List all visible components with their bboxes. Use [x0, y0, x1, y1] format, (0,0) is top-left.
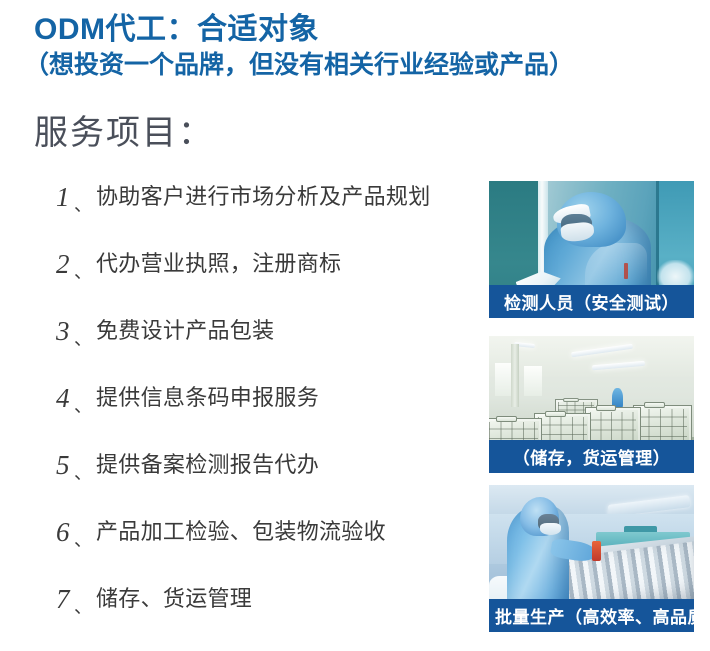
list-item-label: 协助客户进行市场分析及产品规划 — [96, 182, 431, 210]
photo-caption: 批量生产（高效率、高品质） — [489, 599, 694, 632]
list-item-separator: 、 — [73, 383, 96, 418]
list-item-label: 代办营业执照，注册商标 — [96, 249, 341, 277]
list-item-number: 4 — [56, 383, 73, 412]
list-item-separator: 、 — [73, 316, 96, 351]
photo-gallery: 检测人员（安全测试） （储存，货运管理） — [489, 181, 694, 632]
list-item: 3 、 免费设计产品包装 — [56, 316, 476, 383]
list-item-separator: 、 — [73, 450, 96, 485]
list-item-label: 免费设计产品包装 — [96, 316, 274, 344]
list-item-number: 2 — [56, 249, 73, 278]
list-item-number: 6 — [56, 517, 73, 546]
list-item-number: 5 — [56, 450, 73, 479]
list-item: 5 、 提供备案检测报告代办 — [56, 450, 476, 517]
list-item-number: 1 — [56, 182, 73, 211]
services-section-heading: 服务项目： — [34, 112, 214, 155]
list-item-label: 提供信息条码申报服务 — [96, 383, 319, 411]
photo-card-production: 批量生产（高效率、高品质） — [489, 485, 694, 632]
list-item-separator: 、 — [73, 182, 96, 217]
photo-caption: 检测人员（安全测试） — [489, 285, 694, 318]
list-item: 7 、 储存、货运管理 — [56, 584, 476, 651]
list-item-separator: 、 — [73, 517, 96, 552]
list-item: 2 、 代办营业执照，注册商标 — [56, 249, 476, 316]
page-subtitle: （想投资一个品牌，但没有相关行业经验或产品） — [24, 49, 710, 81]
list-item-label: 储存、货运管理 — [96, 584, 252, 612]
service-items-list: 1 、 协助客户进行市场分析及产品规划 2 、 代办营业执照，注册商标 3 、 … — [56, 182, 476, 651]
page-header: ODM代工：合适对象 （想投资一个品牌，但没有相关行业经验或产品） — [0, 0, 710, 81]
photo-caption: （储存，货运管理） — [489, 440, 694, 473]
photo-card-inspector: 检测人员（安全测试） — [489, 181, 694, 318]
list-item: 6 、 产品加工检验、包装物流验收 — [56, 517, 476, 584]
list-item-number: 3 — [56, 316, 73, 345]
list-item: 4 、 提供信息条码申报服务 — [56, 383, 476, 450]
list-item-label: 提供备案检测报告代办 — [96, 450, 319, 478]
list-item: 1 、 协助客户进行市场分析及产品规划 — [56, 182, 476, 249]
list-item-label: 产品加工检验、包装物流验收 — [96, 517, 386, 545]
list-item-separator: 、 — [73, 249, 96, 284]
photo-card-warehouse: （储存，货运管理） — [489, 336, 694, 473]
list-item-separator: 、 — [73, 584, 96, 619]
list-item-number: 7 — [56, 584, 73, 613]
page-title: ODM代工：合适对象 — [34, 12, 710, 49]
